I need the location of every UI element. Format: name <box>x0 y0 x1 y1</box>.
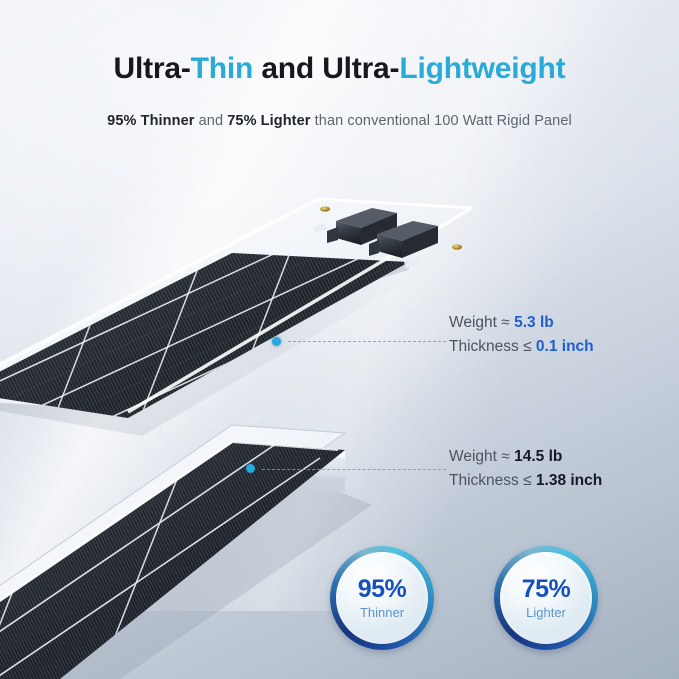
leader-line-rigid <box>262 469 446 470</box>
thickness-label: Thickness ≤ <box>449 338 536 355</box>
badge-percent: 75% <box>522 577 571 602</box>
badge-inner: 75% Lighter <box>500 552 592 644</box>
callout-rigid-weight: Weight ≈ 14.5 lb <box>449 445 602 469</box>
callout-rigid-panel: Weight ≈ 14.5 lb Thickness ≤ 1.38 inch <box>449 445 602 493</box>
callout-flexible-thickness: Thickness ≤ 0.1 inch <box>449 335 594 359</box>
badge-caption: Thinner <box>360 606 404 619</box>
marker-dot-rigid <box>246 464 255 473</box>
callout-flexible-panel: Weight ≈ 5.3 lb Thickness ≤ 0.1 inch <box>449 311 594 359</box>
thickness-value: 1.38 inch <box>536 472 602 489</box>
laminate-tab-2 <box>404 257 420 269</box>
weight-label: Weight ≈ <box>449 314 514 331</box>
thickness-label: Thickness ≤ <box>449 472 536 489</box>
badge-thinner: 95% Thinner <box>330 546 434 650</box>
weight-value: 14.5 lb <box>514 448 562 465</box>
badge-caption: Lighter <box>526 606 566 619</box>
callout-rigid-thickness: Thickness ≤ 1.38 inch <box>449 469 602 493</box>
marker-dot-flexible <box>272 337 281 346</box>
grommet-top-left <box>320 206 330 211</box>
product-infographic: Ultra-Thin and Ultra-Lightweight 95% Thi… <box>0 0 679 679</box>
weight-value: 5.3 lb <box>514 314 554 331</box>
laminate-tab-3 <box>247 412 263 424</box>
grommet-top-right <box>452 244 462 249</box>
stat-badges: 95% Thinner 75% Lighter <box>318 540 662 660</box>
badge-lighter: 75% Lighter <box>494 546 598 650</box>
badge-inner: 95% Thinner <box>336 552 428 644</box>
leader-line-flexible <box>288 341 446 342</box>
weight-label: Weight ≈ <box>449 448 514 465</box>
thickness-value: 0.1 inch <box>536 338 594 355</box>
callout-flexible-weight: Weight ≈ 5.3 lb <box>449 311 594 335</box>
badge-percent: 95% <box>358 577 407 602</box>
